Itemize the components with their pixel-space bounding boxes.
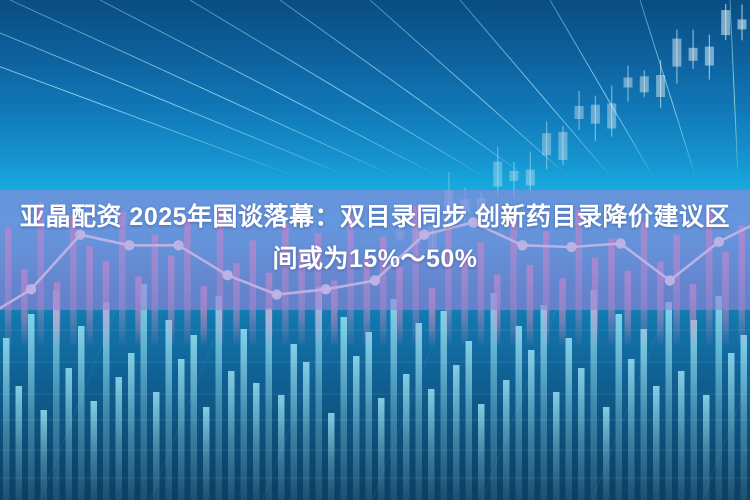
banner-image: 亚晶配资 2025年国谈落幕：双目录同步 创新药目录降价建议区 间或为15%～5… <box>0 0 750 500</box>
headline-line-1: 亚晶配资 2025年国谈落幕：双目录同步 创新药目录降价建议区 <box>0 196 750 238</box>
headline: 亚晶配资 2025年国谈落幕：双目录同步 创新药目录降价建议区 间或为15%～5… <box>0 196 750 280</box>
headline-line-2: 间或为15%～50% <box>0 238 750 280</box>
